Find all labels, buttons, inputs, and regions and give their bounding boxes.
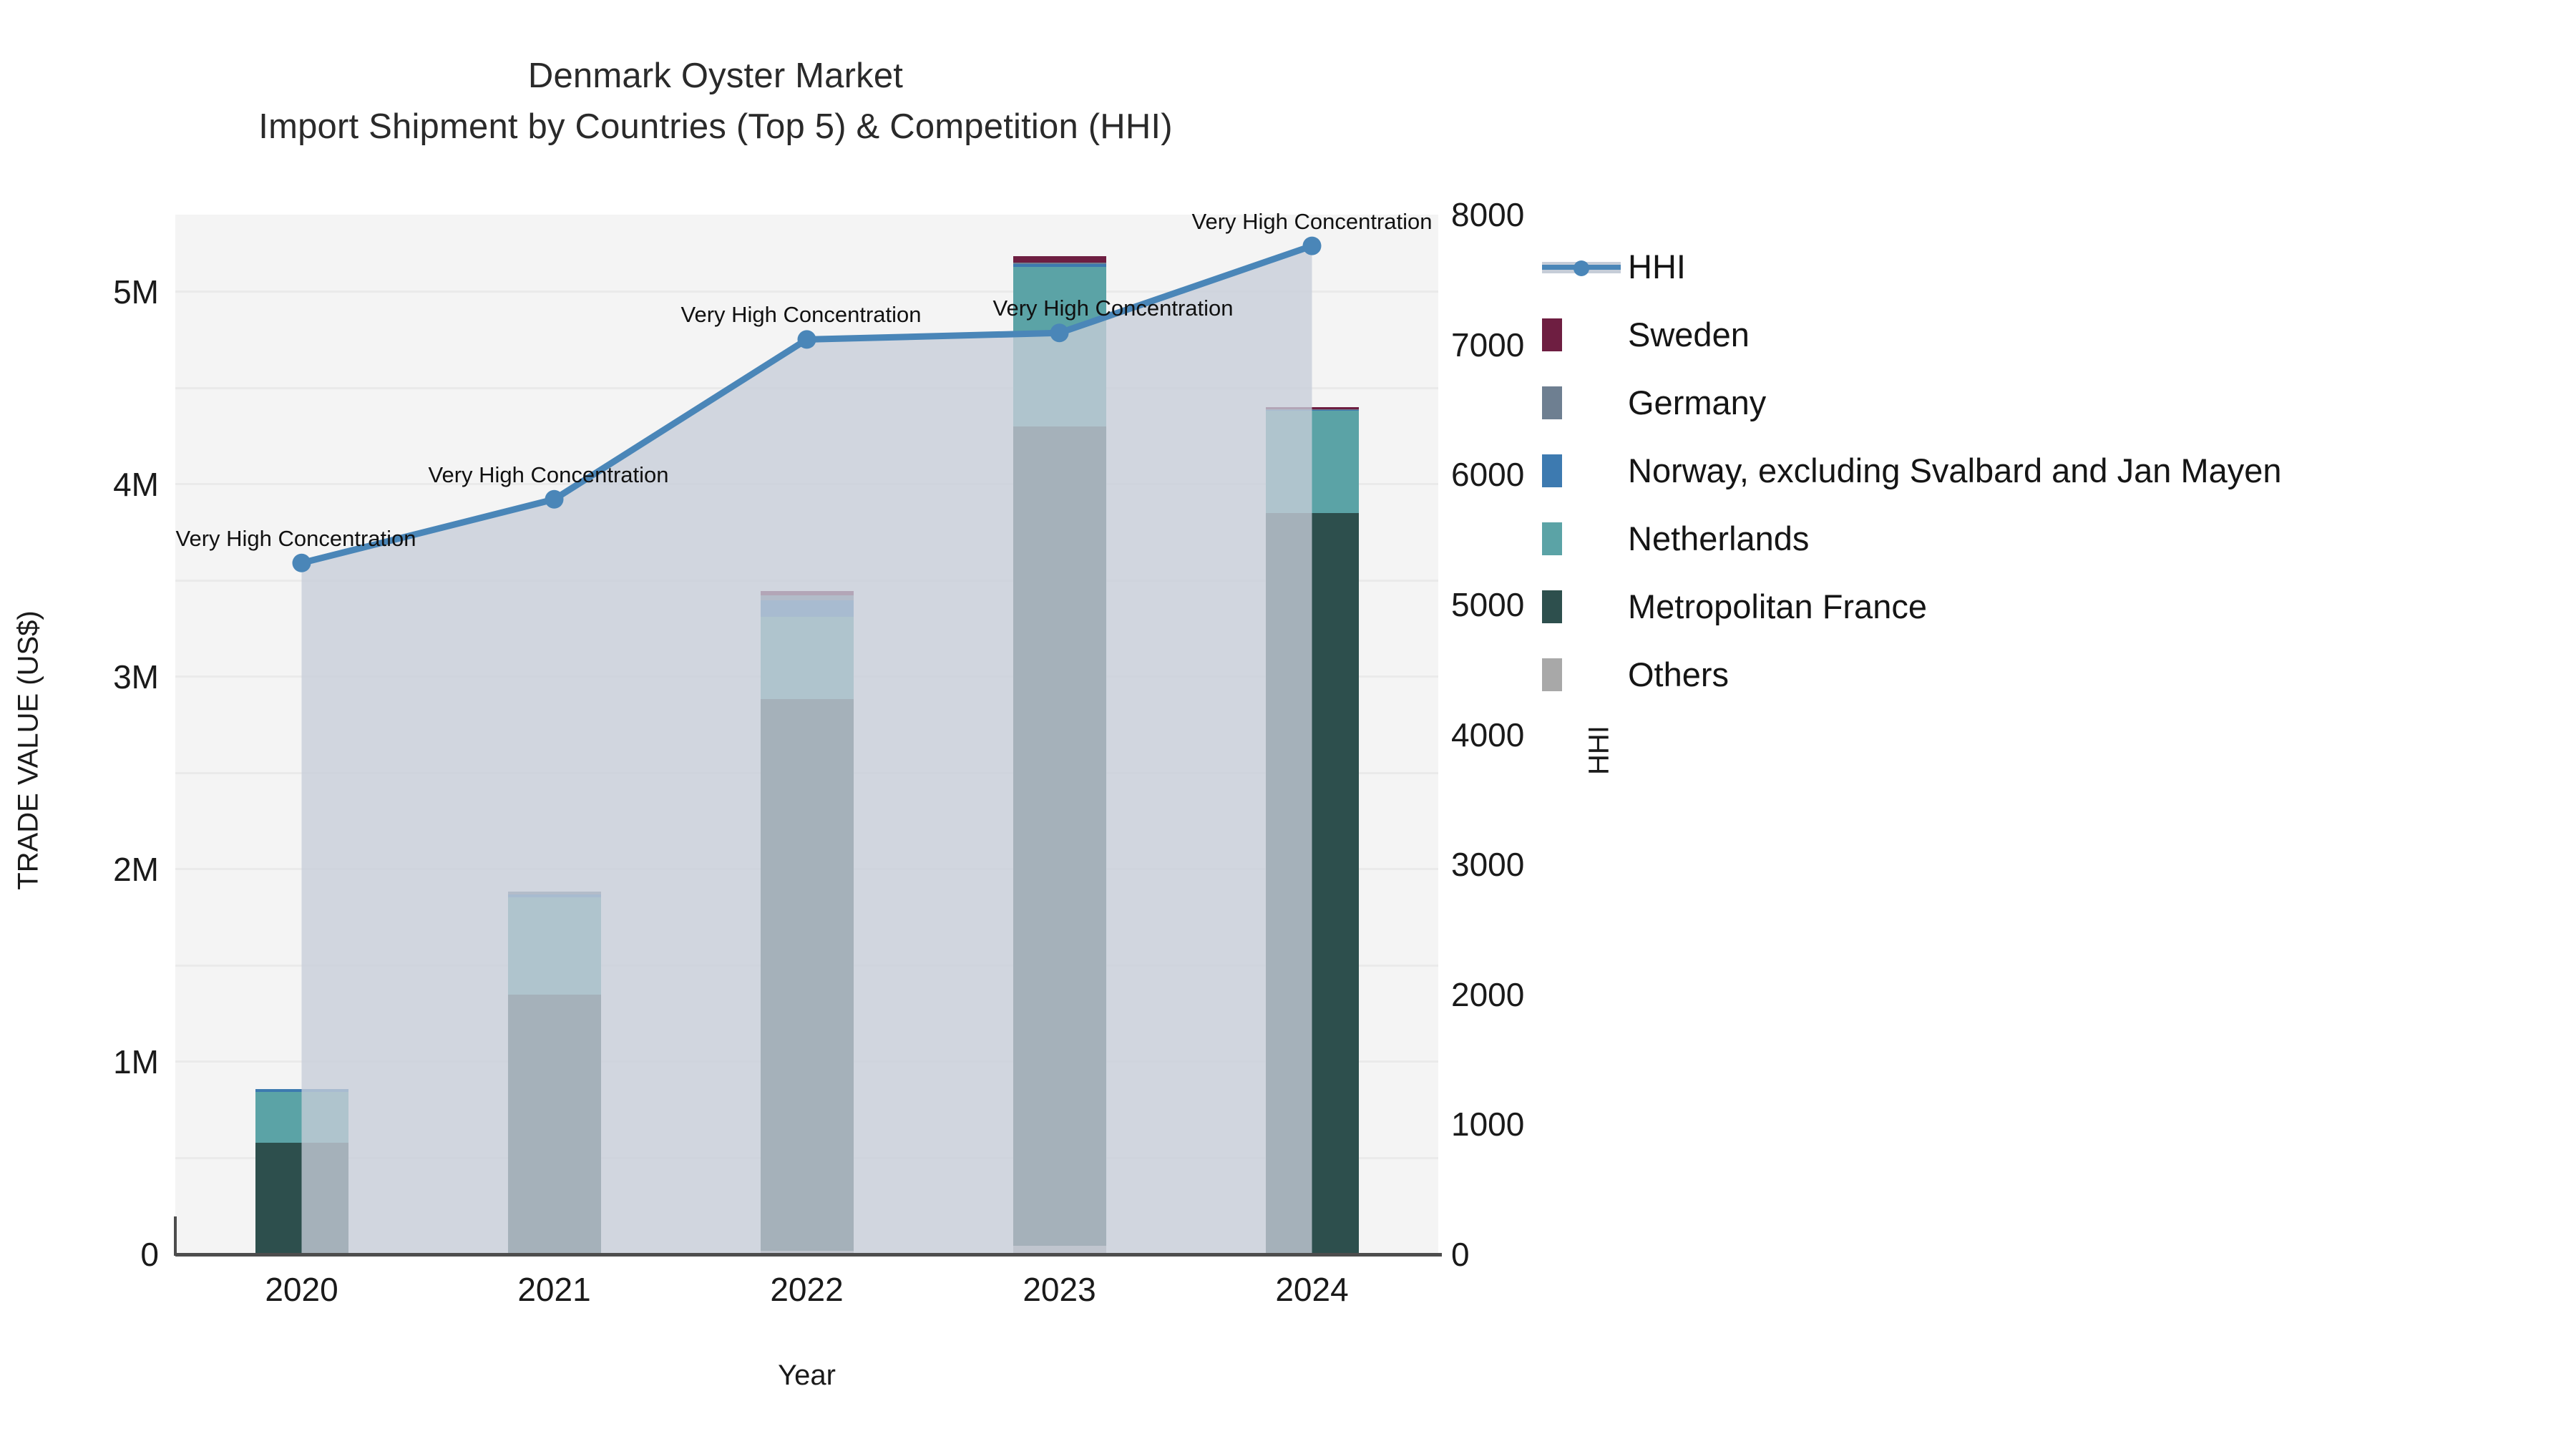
chart-title: Denmark Oyster Market Import Shipment by… [0,56,1431,147]
color-swatch-icon [1542,454,1562,487]
y-axis-right-tick-label: 5000 [1451,585,1524,624]
legend-swatch-box [1542,658,1628,691]
concentration-annotation: Very High Concentration [992,296,1233,321]
bar-segment[interactable] [1013,426,1106,1246]
x-axis-tick-label: 2022 [770,1270,843,1309]
bar-segment[interactable] [255,1092,348,1142]
legend-item[interactable]: Sweden [1542,301,2544,369]
x-axis-title: Year [175,1360,1438,1392]
color-swatch-icon [1542,318,1562,351]
bar-segment[interactable] [1013,263,1106,264]
y-axis-left-tick-label: 1M [113,1043,159,1081]
bar-segment[interactable] [1266,410,1359,411]
bar-segment[interactable] [1013,267,1106,426]
concentration-annotation: Very High Concentration [680,302,921,328]
bar-stack[interactable] [761,215,854,1254]
legend-item[interactable]: Others [1542,640,2544,708]
y-axis-right-tick-label: 4000 [1451,716,1524,754]
y-axis-right-tick-label: 2000 [1451,975,1524,1014]
legend-item-label: HHI [1628,247,1686,286]
legend-item-label: Metropolitan France [1628,587,1927,626]
concentration-annotation: Very High Concentration [1191,209,1432,235]
legend-item-label: Netherlands [1628,519,1809,558]
bar-segment[interactable] [761,591,854,595]
concentration-annotation: Very High Concentration [175,526,416,552]
bar-segment[interactable] [508,897,601,995]
legend-swatch-box [1542,318,1628,351]
plot-area: Very High ConcentrationVery High Concent… [175,215,1438,1254]
x-axis-tick-label: 2021 [517,1270,590,1309]
legend-item-label: Norway, excluding Svalbard and Jan Mayen [1628,451,2282,490]
color-swatch-icon [1542,658,1562,691]
chart-title-line-1: Denmark Oyster Market [0,56,1431,97]
bar-segment[interactable] [508,995,601,1254]
bar-segment[interactable] [255,1089,348,1092]
y-axis-right-tick-label: 3000 [1451,845,1524,884]
color-swatch-icon [1542,590,1562,623]
line-marker-icon [1542,250,1621,283]
bar-segment[interactable] [1266,407,1359,409]
y-axis-right-tick-label: 6000 [1451,455,1524,494]
bar-segment[interactable] [255,1143,348,1254]
legend-item[interactable]: Netherlands [1542,504,2544,572]
chart-figure: Denmark Oyster Market Import Shipment by… [0,0,2576,1449]
legend-line-swatch-box [1542,250,1628,283]
bar-segment[interactable] [1013,264,1106,266]
bar-stack[interactable] [508,215,601,1254]
x-axis-tick-label: 2023 [1023,1270,1096,1309]
legend-item[interactable]: Germany [1542,369,2544,436]
bar-segment[interactable] [1013,256,1106,263]
legend-item[interactable]: Metropolitan France [1542,572,2544,640]
bar-segment[interactable] [761,617,854,700]
y-axis-left-tick-label: 0 [140,1235,159,1274]
x-axis-tick-label: 2020 [265,1270,338,1309]
y-axis-left-tick-label: 4M [113,465,159,504]
legend-item[interactable]: Norway, excluding Svalbard and Jan Mayen [1542,436,2544,504]
y-axis-left-tick-label: 5M [113,273,159,311]
legend-item-label: Germany [1628,383,1766,422]
y-axis-right-tick-label: 7000 [1451,326,1524,364]
y-axis-right-tick-label: 1000 [1451,1105,1524,1143]
bar-segment[interactable] [508,892,601,894]
chart-legend: HHISwedenGermanyNorway, excluding Svalba… [1542,233,2544,708]
bar-segment[interactable] [761,595,854,600]
bar-segment[interactable] [761,600,854,617]
bar-segment[interactable] [508,894,601,898]
bar-segment[interactable] [1266,411,1359,513]
plot-inner [175,215,1438,1254]
y-axis-right-tick-label: 8000 [1451,195,1524,234]
color-swatch-icon [1542,522,1562,555]
x-axis-tick-label: 2024 [1275,1270,1348,1309]
legend-swatch-box [1542,522,1628,555]
bar-stack[interactable] [255,215,348,1254]
x-axis-spine [175,1253,1442,1257]
color-swatch-icon [1542,386,1562,419]
bar-stack[interactable] [1266,215,1359,1254]
y-axis-spine [174,1216,177,1256]
y-axis-left-tick-label: 3M [113,658,159,696]
bar-segment[interactable] [1266,409,1359,410]
legend-item[interactable]: HHI [1542,233,2544,301]
bar-segment[interactable] [761,699,854,1251]
legend-swatch-box [1542,386,1628,419]
legend-item-label: Others [1628,655,1729,694]
bar-segment[interactable] [1266,513,1359,1254]
legend-swatch-box [1542,590,1628,623]
y-axis-right-tick-label: 0 [1451,1235,1470,1274]
legend-item-label: Sweden [1628,315,1750,354]
legend-swatch-box [1542,454,1628,487]
y-axis-left-title: TRADE VALUE (US$) [13,479,45,1023]
chart-subtitle-line-2: Import Shipment by Countries (Top 5) & C… [0,107,1431,147]
bar-stack[interactable] [1013,215,1106,1254]
concentration-annotation: Very High Concentration [428,462,668,488]
y-axis-left-tick-label: 2M [113,850,159,889]
